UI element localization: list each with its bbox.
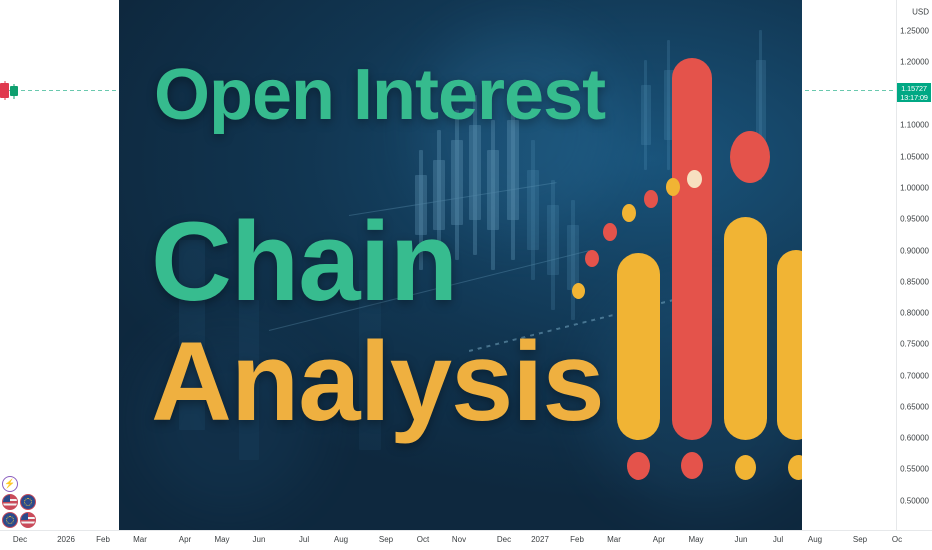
us-flag-icon-2[interactable] xyxy=(20,512,36,528)
time-tick: Mar xyxy=(607,535,621,544)
price-tick: 0.50000 xyxy=(900,497,929,506)
time-tick: Oc xyxy=(892,535,902,544)
dot-trail-4 xyxy=(622,204,636,222)
dot-trail-6 xyxy=(666,178,680,196)
time-tick: Sep xyxy=(853,535,867,544)
price-tick: 1.20000 xyxy=(900,58,929,67)
current-price-value: 1.15727 xyxy=(899,84,929,93)
time-tick: Apr xyxy=(653,535,665,544)
price-tick: 0.65000 xyxy=(900,403,929,412)
bar-1 xyxy=(617,253,660,440)
bar-3 xyxy=(724,217,767,440)
current-price-badge[interactable]: 1.15727 13:17:09 xyxy=(897,83,931,102)
event-marker-group[interactable]: ⚡ xyxy=(2,474,36,528)
time-tick: Jun xyxy=(253,535,266,544)
axis-divider xyxy=(896,0,897,530)
bearish-candle xyxy=(0,83,9,98)
plot-area[interactable]: Open Interest Chain Analysis xyxy=(0,0,896,530)
time-axis[interactable]: Dec2026FebMarAprMayJunJulAugSepOctNovDec… xyxy=(0,530,932,550)
time-tick: Apr xyxy=(179,535,191,544)
eu-flag-icon[interactable] xyxy=(20,494,36,510)
price-tick: 1.10000 xyxy=(900,121,929,130)
time-tick: May xyxy=(214,535,229,544)
dot-base-1 xyxy=(627,452,650,480)
dot-trail-2 xyxy=(585,250,599,267)
bar-2 xyxy=(672,58,712,440)
promo-headline-line3: Analysis xyxy=(151,330,604,433)
price-axis[interactable]: USD 1.250001.200001.100001.050001.000000… xyxy=(896,0,932,530)
event-row-1[interactable]: ⚡ xyxy=(2,476,36,492)
candle-series xyxy=(0,83,24,99)
price-tick: 1.25000 xyxy=(900,27,929,36)
time-axis-divider xyxy=(0,530,932,531)
time-tick: Feb xyxy=(570,535,584,544)
time-tick: Oct xyxy=(417,535,429,544)
time-tick: Mar xyxy=(133,535,147,544)
price-tick: 1.00000 xyxy=(900,184,929,193)
time-tick: Jun xyxy=(735,535,748,544)
time-tick: Dec xyxy=(497,535,511,544)
price-tick: 0.95000 xyxy=(900,215,929,224)
event-row-3[interactable] xyxy=(2,512,36,528)
time-tick: Jul xyxy=(299,535,309,544)
time-tick: 2027 xyxy=(531,535,549,544)
dot-base-3 xyxy=(735,455,756,480)
time-tick: Nov xyxy=(452,535,466,544)
time-tick: 2026 xyxy=(57,535,75,544)
price-tick: 0.70000 xyxy=(900,372,929,381)
chart-root: Open Interest Chain Analysis xyxy=(0,0,932,550)
promo-headline-line1: Open Interest xyxy=(154,62,605,128)
time-tick: Aug xyxy=(808,535,822,544)
price-tick: 0.85000 xyxy=(900,278,929,287)
price-tick: 0.60000 xyxy=(900,434,929,443)
event-row-2[interactable] xyxy=(2,494,36,510)
time-tick: Feb xyxy=(96,535,110,544)
dot-large-red xyxy=(730,131,770,183)
promo-image: Open Interest Chain Analysis xyxy=(119,0,802,530)
dot-base-2 xyxy=(681,452,703,479)
lightning-bolt-icon[interactable]: ⚡ xyxy=(2,476,18,492)
price-tick: 0.55000 xyxy=(900,465,929,474)
us-flag-icon[interactable] xyxy=(2,494,18,510)
price-tick: 1.05000 xyxy=(900,153,929,162)
dot-trail-3 xyxy=(603,223,617,241)
promo-headline-line2: Chain xyxy=(151,210,457,313)
time-tick: May xyxy=(688,535,703,544)
dot-trail-1 xyxy=(572,283,585,299)
dot-trail-7 xyxy=(687,170,702,188)
dot-base-4 xyxy=(788,455,802,480)
time-tick: Aug xyxy=(334,535,348,544)
time-tick: Jul xyxy=(773,535,783,544)
time-tick: Sep xyxy=(379,535,393,544)
axis-currency-label: USD xyxy=(912,8,929,17)
price-tick: 0.75000 xyxy=(900,340,929,349)
price-tick: 0.80000 xyxy=(900,309,929,318)
current-price-time: 13:17:09 xyxy=(899,93,929,102)
price-tick: 0.90000 xyxy=(900,247,929,256)
time-tick: Dec xyxy=(13,535,27,544)
eu-flag-icon-2[interactable] xyxy=(2,512,18,528)
bullish-candle xyxy=(10,86,18,96)
bar-4 xyxy=(777,250,802,440)
dot-trail-5 xyxy=(644,190,658,208)
